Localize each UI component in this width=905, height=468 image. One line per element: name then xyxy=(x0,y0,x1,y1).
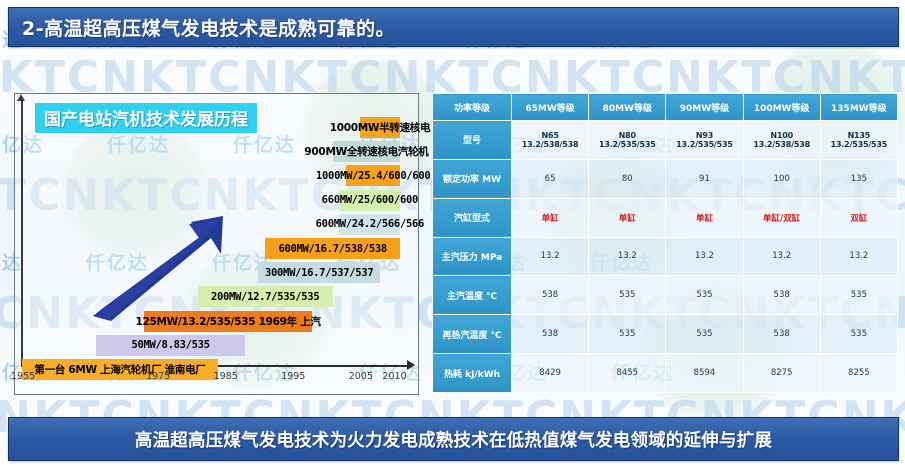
chart-bar: 50MW/8.83/535 xyxy=(96,335,245,356)
spec-table: 功率等级65MW等级80MW等级90MW等级100MW等级135MW等级 型号N… xyxy=(432,93,898,393)
chart-plot-area: 国产电站汽机技术发展历程 1000MW半转速核电900MW全转速核电汽轮机100… xyxy=(15,94,418,394)
table-cell: 535 xyxy=(589,276,666,315)
table-cell: N65 13.2/538/538 xyxy=(512,121,589,160)
chart-bar: 900MW全转速核电汽轮机 xyxy=(333,141,401,162)
chart-y-axis-arrow xyxy=(17,94,25,101)
table-row-header: 热耗 kJ/kWh xyxy=(433,354,512,393)
table-cell: 单缸/双缸 xyxy=(743,198,820,237)
conclusion-text: 高温超高压煤气发电技术为火力发电成熟技术在低热值煤气发电领域的延伸与扩展 xyxy=(135,427,772,452)
table-cell: 535 xyxy=(666,276,743,315)
table-row: 额定功率 MW658091100135 xyxy=(433,159,898,198)
table-row: 再热汽温度 ℃538535535538535 xyxy=(433,315,898,354)
table-row-header: 额定功率 MW xyxy=(433,159,512,198)
table-cell: 13.2 xyxy=(589,237,666,276)
slide-title-bar: 2-高温超高压煤气发电技术是成熟可靠的。 xyxy=(8,7,899,47)
table-cell: 单缸 xyxy=(666,198,743,237)
chart-y-axis xyxy=(21,98,23,366)
table-cell: 100 xyxy=(743,159,820,198)
table-cell: 8594 xyxy=(666,354,743,393)
table-cell: 8455 xyxy=(589,354,666,393)
chart-x-tick-label: 1995 xyxy=(281,371,305,382)
table-cell: 65 xyxy=(512,159,589,198)
chart-bar: 660MW/25/600/600 xyxy=(339,190,400,211)
table-cell: 135 xyxy=(820,159,897,198)
table-cell: 535 xyxy=(666,315,743,354)
table-cell: N80 13.2/535/535 xyxy=(589,121,666,160)
chart-title: 国产电站汽机技术发展历程 xyxy=(35,103,257,133)
table-row-header: 再热汽温度 ℃ xyxy=(433,315,512,354)
chart-x-tick-label: 1975 xyxy=(146,371,170,382)
table-cell: 91 xyxy=(666,159,743,198)
page-title: 2-高温超高压煤气发电技术是成熟可靠的。 xyxy=(9,14,395,41)
table-cell: N135 13.2/535/535 xyxy=(820,121,897,160)
table-cell: 535 xyxy=(820,276,897,315)
table-cell: 8429 xyxy=(512,354,589,393)
table-cell: 538 xyxy=(743,315,820,354)
table-cell: 13.2 xyxy=(820,237,897,276)
table-cell: N100 13.2/538/538 xyxy=(743,121,820,160)
spec-table-header: 功率等级65MW等级80MW等级90MW等级100MW等级135MW等级 xyxy=(433,94,898,121)
table-cell: 8275 xyxy=(743,354,820,393)
table-column-header: 65MW等级 xyxy=(512,94,589,121)
chart-bar: 600MW/24.2/566/566 xyxy=(339,214,400,235)
chart-bar: 1000MW/25.4/600/600 xyxy=(346,165,400,186)
table-row: 汽缸型式单缸单缸单缸单缸/双缸双缸 xyxy=(433,198,898,237)
table-row-header: 主汽温度 ℃ xyxy=(433,276,512,315)
table-corner-header: 功率等级 xyxy=(433,94,512,121)
chart-bar: 125MW/13.2/535/535 1969年 上汽 xyxy=(144,311,313,332)
chart-x-tick-label: 2005 xyxy=(349,371,373,382)
table-column-header: 135MW等级 xyxy=(820,94,897,121)
table-cell: 13.2 xyxy=(743,237,820,276)
table-cell: 双缸 xyxy=(820,198,897,237)
table-cell: 单缸 xyxy=(589,198,666,237)
table-cell: 单缸 xyxy=(512,198,589,237)
table-row-header: 型号 xyxy=(433,121,512,160)
timeline-chart: 国产电站汽机技术发展历程 1000MW半转速核电900MW全转速核电汽轮机100… xyxy=(14,93,419,395)
table-cell: 538 xyxy=(743,276,820,315)
table-cell: 535 xyxy=(589,315,666,354)
chart-bar: 600MW/16.7/538/538 xyxy=(265,238,400,259)
conclusion-banner: 高温超高压煤气发电技术为火力发电成熟技术在低热值煤气发电领域的延伸与扩展 xyxy=(8,417,899,461)
table-row: 型号N65 13.2/538/538N80 13.2/535/535N93 13… xyxy=(433,121,898,160)
chart-x-tick-label: 1955 xyxy=(11,371,35,382)
chart-bar: 第一台 6MW 上海汽轮机厂 淮南电厂 xyxy=(22,359,218,380)
chart-x-tick-label: 2010 xyxy=(382,371,406,382)
chart-bar: 300MW/16.7/537/537 xyxy=(258,262,380,283)
table-cell: 535 xyxy=(820,315,897,354)
table-cell: 80 xyxy=(589,159,666,198)
table-column-header: 90MW等级 xyxy=(666,94,743,121)
table-row-header: 主汽压力 MPa xyxy=(433,237,512,276)
table-cell: N93 13.2/535/535 xyxy=(666,121,743,160)
chart-bar: 200MW/12.7/535/535 xyxy=(198,286,333,307)
chart-x-axis-arrow xyxy=(407,360,415,370)
chart-bar: 1000MW半转速核电 xyxy=(360,117,401,138)
table-cell: 13.2 xyxy=(512,237,589,276)
table-cell: 8255 xyxy=(820,354,897,393)
table-column-header: 80MW等级 xyxy=(589,94,666,121)
table-row: 主汽压力 MPa13.213.213.213.213.2 xyxy=(433,237,898,276)
spec-table-body: 型号N65 13.2/538/538N80 13.2/535/535N93 13… xyxy=(433,121,898,393)
chart-x-tick-label: 1985 xyxy=(214,371,238,382)
table-cell: 538 xyxy=(512,276,589,315)
table-row-header: 汽缸型式 xyxy=(433,198,512,237)
table-header-row: 功率等级65MW等级80MW等级90MW等级100MW等级135MW等级 xyxy=(433,94,898,121)
table-row: 主汽温度 ℃538535535538535 xyxy=(433,276,898,315)
slide-canvas: NKTCNKTCNKTCNKTCNKTCNKTCNKTCNKTCNKTCN KT… xyxy=(0,0,905,468)
table-column-header: 100MW等级 xyxy=(743,94,820,121)
table-cell: 538 xyxy=(512,315,589,354)
table-cell: 13.2 xyxy=(666,237,743,276)
table-row: 热耗 kJ/kWh84298455859482758255 xyxy=(433,354,898,393)
